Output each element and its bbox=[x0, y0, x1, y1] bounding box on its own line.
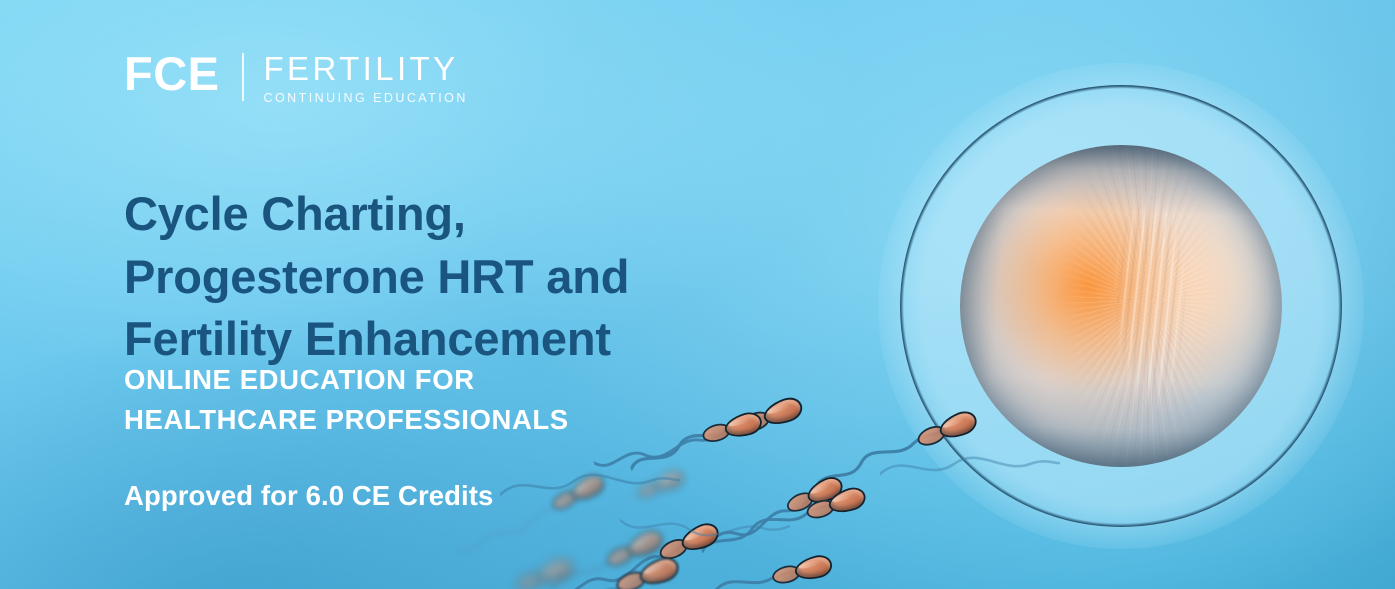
banner-content: FCE FERTILITY CONTINUING EDUCATION Cycle… bbox=[124, 0, 844, 589]
ce-credits-badge: Approved for 6.0 CE Credits bbox=[124, 480, 493, 512]
logo-tagline-continuing-education: CONTINUING EDUCATION bbox=[264, 92, 468, 105]
subtitle-line-1: ONLINE EDUCATION FOR bbox=[124, 360, 744, 400]
logo-mark-fce: FCE bbox=[124, 52, 220, 97]
subtitle-line-2: HEALTHCARE PROFESSIONALS bbox=[124, 400, 744, 440]
page-title: Cycle Charting, Progesterone HRT and Fer… bbox=[124, 183, 724, 371]
headline-line-2: Progesterone HRT and bbox=[124, 246, 724, 309]
logo-brand-fertility: FERTILITY bbox=[264, 52, 468, 85]
ooplasm-left-shadow bbox=[960, 145, 1283, 468]
fce-fertility-logo[interactable]: FCE FERTILITY CONTINUING EDUCATION bbox=[124, 52, 468, 105]
logo-text-group: FERTILITY CONTINUING EDUCATION bbox=[264, 52, 468, 105]
fertility-course-banner: FCE FERTILITY CONTINUING EDUCATION Cycle… bbox=[0, 0, 1395, 589]
sperm-tail-path bbox=[880, 440, 1060, 500]
headline-line-1: Cycle Charting, bbox=[124, 183, 724, 246]
ooplasm bbox=[960, 145, 1283, 468]
logo-divider bbox=[242, 53, 244, 101]
subtitle: ONLINE EDUCATION FOR HEALTHCARE PROFESSI… bbox=[124, 360, 744, 440]
